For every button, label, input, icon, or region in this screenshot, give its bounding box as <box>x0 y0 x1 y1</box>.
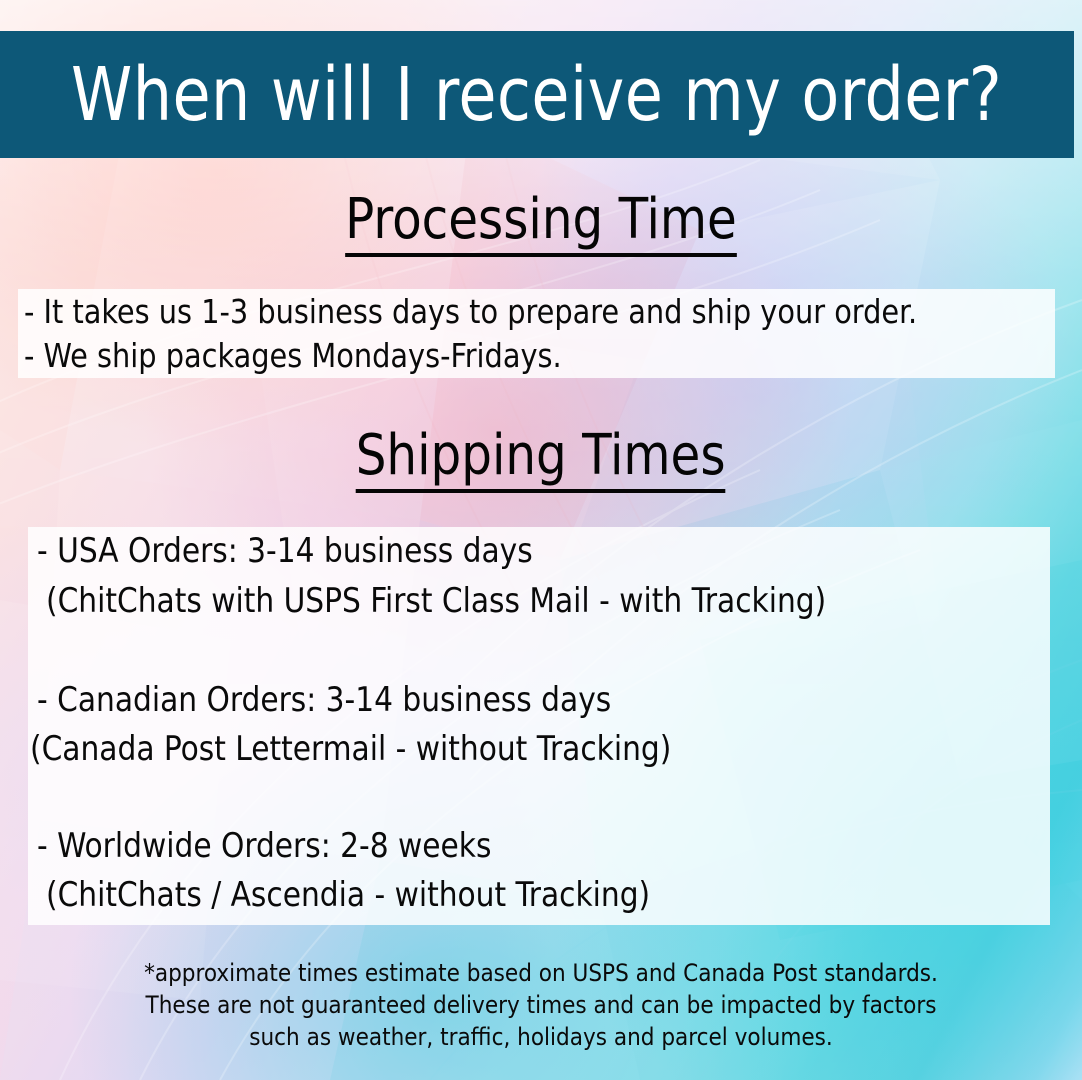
shipping-times-heading-text: Shipping Times <box>356 428 726 493</box>
header-title: When will I receive my order? <box>71 58 1002 132</box>
usa-orders-duration: - USA Orders: 3-14 business days <box>37 534 533 568</box>
canadian-orders-carrier: (Canada Post Lettermail - without Tracki… <box>30 732 671 766</box>
shipping-info-graphic: When will I receive my order? Processing… <box>0 0 1082 1080</box>
worldwide-orders-carrier: (ChitChats / Ascendia - without Tracking… <box>46 878 650 912</box>
header-banner: When will I receive my order? <box>0 31 1074 158</box>
footnote-disclaimer: *approximate times estimate based on USP… <box>0 958 1082 1054</box>
processing-time-heading-text: Processing Time <box>345 192 737 257</box>
canadian-orders-duration: - Canadian Orders: 3-14 business days <box>37 683 611 717</box>
worldwide-orders-duration: - Worldwide Orders: 2-8 weeks <box>37 829 491 863</box>
footnote-line-2: These are not guaranteed delivery times … <box>0 990 1082 1022</box>
section-heading-shipping-times: Shipping Times <box>0 428 1082 493</box>
section-heading-processing-time: Processing Time <box>0 192 1082 257</box>
processing-time-line-1: - It takes us 1-3 business days to prepa… <box>24 295 917 328</box>
processing-time-line-2: - We ship packages Mondays-Fridays. <box>24 339 562 372</box>
footnote-line-3: such as weather, traffic, holidays and p… <box>0 1022 1082 1054</box>
usa-orders-carrier: (ChitChats with USPS First Class Mail - … <box>46 584 826 618</box>
footnote-line-1: *approximate times estimate based on USP… <box>0 958 1082 990</box>
